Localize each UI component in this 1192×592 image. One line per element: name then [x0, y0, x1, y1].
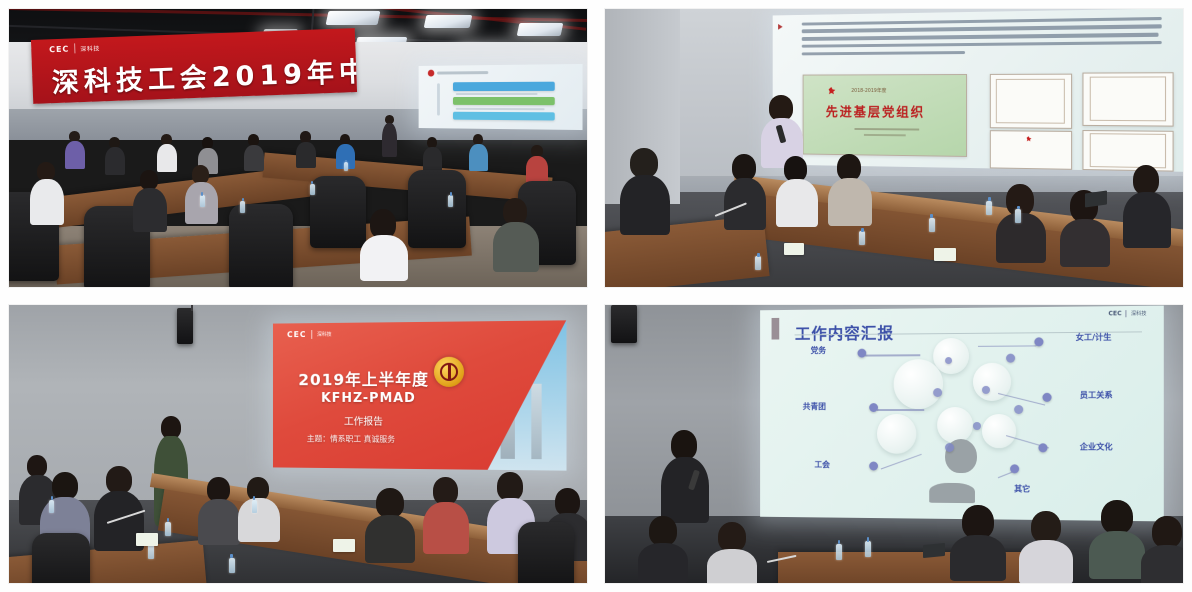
- attendee-torso: [493, 222, 539, 272]
- attendee-torso: [157, 144, 177, 172]
- certificate-line: [864, 134, 906, 136]
- diagram-node[interactable]: [870, 462, 879, 471]
- decor-bubble: [894, 359, 943, 409]
- water-bottle: [49, 500, 54, 513]
- connector-line: [878, 409, 925, 410]
- attendee-foreground: [367, 488, 411, 583]
- decor-bubble: [937, 407, 973, 443]
- diagram-node[interactable]: [1035, 337, 1044, 346]
- attendee-torso: [296, 142, 316, 168]
- water-bottle: [986, 201, 992, 215]
- ceiling-light: [325, 11, 380, 25]
- slide-line-4: 主题：情系职工 真诚服务: [307, 433, 395, 444]
- node-label-gongqingtuan: 共青团: [803, 401, 826, 412]
- slide-line-2: KFHZ-PMAD: [321, 391, 416, 406]
- decor-bubble: [878, 413, 917, 453]
- speaker-mount: [191, 305, 193, 311]
- award-certificate: [1083, 72, 1173, 126]
- attendee-foreground: [425, 477, 465, 577]
- attendee-foreground: [640, 516, 684, 584]
- attendee: [246, 134, 262, 170]
- attendee-torso: [423, 502, 469, 554]
- attendee-head: [1152, 516, 1182, 548]
- slide-bar-1: [452, 82, 554, 91]
- diagram-node[interactable]: [1039, 443, 1048, 452]
- diagram-node[interactable]: [982, 386, 990, 394]
- union-gear-emblem-icon: [434, 357, 464, 387]
- water-bottle: [310, 184, 315, 195]
- award-certificate: [990, 130, 1072, 169]
- connector-line: [866, 354, 921, 356]
- water-bottle: [1015, 209, 1021, 223]
- slide-bar-3: [452, 111, 554, 120]
- attendee-torso: [996, 213, 1046, 263]
- attendee-head: [649, 516, 677, 546]
- shenkeji-logo-text: 深科技: [317, 331, 332, 338]
- attendee-torso: [1123, 192, 1171, 248]
- attendee-torso: [950, 535, 1006, 581]
- logo-divider: [74, 43, 75, 53]
- photo-top-right[interactable]: 先进基层党组织、忆峥嵘岁月、树先进典型、扬党员正气。东沙湖党工委为进一步激励辖区…: [604, 8, 1184, 288]
- attendee-torso: [707, 549, 757, 584]
- attendee-torso: [526, 156, 548, 184]
- attendee-torso: [620, 175, 670, 235]
- presenter-torso: [382, 123, 397, 157]
- photo-cell-bottom-left[interactable]: CEC 深科技 2019年上半年度 KFHZ-PMAD 工作报告 主题：情系职工…: [0, 296, 596, 592]
- slide-text-line: [456, 107, 544, 109]
- slide-axis: [437, 83, 440, 115]
- attendee: [67, 131, 83, 171]
- presenter: [382, 115, 398, 165]
- water-bottle: [240, 201, 245, 213]
- attendee-torso: [238, 498, 280, 542]
- certificate-title: 先进基层党组织: [826, 101, 925, 120]
- presenter-torso: [661, 457, 709, 523]
- connector-line: [998, 392, 1045, 405]
- attendee-foreground: [622, 148, 666, 259]
- party-emblem-icon: [1026, 135, 1032, 141]
- water-bottle: [344, 162, 348, 171]
- slide-header: [427, 69, 487, 76]
- chair: [229, 204, 293, 288]
- diagram-node[interactable]: [1006, 354, 1015, 363]
- cec-logo-text: CEC: [287, 330, 306, 339]
- attendee-head: [732, 154, 756, 181]
- slide-header-line: [437, 71, 488, 74]
- water-bottle: [252, 500, 257, 513]
- tissue-box: [333, 539, 355, 552]
- attendee-head: [140, 170, 158, 190]
- certificate-line: [854, 127, 919, 130]
- decor-bubble: [933, 337, 969, 373]
- attendee-foreground: [998, 184, 1042, 287]
- photo-gallery: CEC 深科技 深科技工会2019年中工作会议: [0, 0, 1192, 592]
- attendee-torso: [776, 179, 818, 227]
- laptop: [923, 543, 945, 558]
- attendee-foreground: [362, 209, 404, 287]
- diagram-node[interactable]: [1043, 392, 1052, 401]
- photo-top-left[interactable]: CEC 深科技 深科技工会2019年中工作会议: [8, 8, 588, 288]
- attendee-head: [630, 148, 658, 178]
- attendee-head: [503, 198, 527, 225]
- decor-bubble: [982, 413, 1016, 447]
- attendee: [529, 145, 547, 183]
- attendee-torso: [1019, 540, 1073, 584]
- attendee-head: [497, 472, 523, 501]
- attendee-head: [376, 488, 404, 518]
- tissue-box: [784, 243, 804, 255]
- water-bottle: [229, 558, 235, 573]
- attendee-head: [433, 477, 458, 505]
- water-bottle: [865, 541, 871, 557]
- water-bottle: [200, 195, 205, 207]
- award-certificate: [990, 74, 1072, 129]
- banner-logo: CEC 深科技: [49, 43, 100, 55]
- projection-screen-bottom-right: 工作内容汇报 CEC 深科技: [760, 305, 1163, 521]
- certificate-main: 2018-2019年度 先进基层党组织: [803, 74, 967, 157]
- chair: [32, 533, 90, 584]
- projection-screen-top-left: [418, 64, 581, 130]
- chair: [310, 176, 366, 248]
- attendee-torso: [365, 515, 415, 563]
- slide-logo: CEC 深科技: [1109, 310, 1147, 318]
- photo-bottom-right[interactable]: 工作内容汇报 CEC 深科技: [604, 304, 1184, 584]
- cec-logo-text: CEC: [1109, 310, 1122, 317]
- water-bottle: [448, 195, 453, 207]
- attendee: [298, 131, 314, 167]
- tissue-box: [136, 533, 158, 546]
- logo-divider: [1126, 310, 1127, 317]
- avatar-body-icon: [929, 483, 975, 503]
- attendee: [778, 156, 814, 251]
- photo-cell-bottom-right[interactable]: 工作内容汇报 CEC 深科技: [596, 296, 1192, 592]
- attendee-foreground: [1091, 500, 1141, 584]
- certificate-frame: [1090, 76, 1166, 121]
- tissue-box: [934, 248, 956, 261]
- attendee-head: [962, 505, 994, 539]
- chair: [408, 170, 466, 248]
- attendee-torso: [1060, 219, 1110, 267]
- cec-logo-text: CEC: [49, 44, 70, 54]
- attendee-foreground: [709, 522, 753, 584]
- attendee-torso: [423, 147, 442, 172]
- water-bottle: [148, 544, 154, 559]
- attendee-head: [106, 466, 132, 494]
- attendee-torso: [198, 499, 240, 545]
- node-label-qiye-wenhua: 企业文化: [1080, 441, 1113, 452]
- attendee-torso: [65, 141, 85, 169]
- wall-speaker: [177, 308, 193, 344]
- photo-cell-top-right[interactable]: 先进基层党组织、忆峥嵘岁月、树先进典型、扬党员正气。东沙湖党工委为进一步激励辖区…: [596, 0, 1192, 296]
- diagram-node[interactable]: [933, 388, 942, 397]
- attendee: [240, 477, 276, 560]
- attendee-torso: [133, 188, 167, 232]
- slide-logo: CEC 深科技: [287, 330, 332, 339]
- projection-screen-top-right: 先进基层党组织、忆峥嵘岁月、树先进典型、扬党员正气。东沙湖党工委为进一步激励辖区…: [773, 8, 1184, 171]
- attendee-foreground: [1143, 516, 1184, 584]
- title-accent-bar: [772, 318, 780, 340]
- attendee-foreground: [495, 198, 535, 281]
- attendee-torso: [469, 144, 488, 171]
- attendee-foreground: [136, 170, 164, 228]
- diagram-node[interactable]: [1014, 405, 1023, 414]
- water-bottle: [755, 256, 761, 270]
- attendee: [425, 137, 441, 171]
- water-bottle: [859, 231, 865, 245]
- node-label-dangwu: 党务: [811, 345, 826, 356]
- diagram-node[interactable]: [974, 422, 982, 430]
- diagram-node[interactable]: [1010, 464, 1019, 473]
- water-bottle: [929, 218, 935, 232]
- attendee-torso: [105, 147, 125, 175]
- ceiling-light: [516, 23, 563, 36]
- attendee-torso: [828, 178, 872, 226]
- building-tower: [532, 383, 542, 458]
- attendee-torso: [360, 235, 408, 281]
- slide-text-line: [456, 93, 538, 95]
- logo-divider: [311, 330, 312, 339]
- attendee-head: [718, 522, 746, 552]
- attendee-torso: [30, 179, 64, 225]
- attendee-foreground: [952, 505, 1002, 584]
- party-emblem-icon: [827, 86, 835, 95]
- attendee-head: [555, 488, 580, 516]
- node-label-nugong-jisheng: 女工/计生: [1076, 332, 1112, 343]
- certificate-frame: [1090, 133, 1166, 167]
- node-label-gonghui: 工会: [815, 459, 830, 470]
- wall-speaker: [611, 305, 637, 343]
- attendee-foreground: [1021, 511, 1069, 584]
- attendee-head: [1101, 500, 1133, 534]
- slide-bullet-icon: [427, 70, 433, 77]
- attendee-head: [1133, 165, 1159, 195]
- banner-title: 深科技工会2019年中工作会议: [51, 45, 357, 100]
- node-label-qita: 其它: [1014, 484, 1030, 495]
- shenkeji-logo-text: 深科技: [80, 43, 100, 53]
- attendee-torso: [244, 145, 264, 171]
- photo-bottom-left[interactable]: CEC 深科技 2019年上半年度 KFHZ-PMAD 工作报告 主题：情系职工…: [8, 304, 588, 584]
- slide-body-text: [792, 16, 1163, 59]
- attendee-foreground: [1125, 165, 1167, 276]
- attendee-torso: [1141, 545, 1184, 584]
- attendee-head: [192, 165, 209, 184]
- connector-line: [881, 453, 922, 469]
- slide-line-1: 2019年上半年度: [298, 366, 429, 390]
- certificate-period: 2018-2019年度: [851, 86, 886, 93]
- attendee: [159, 134, 175, 172]
- slide-bullet-arrow-icon: [778, 23, 783, 29]
- slide-title: 工作内容汇报: [795, 319, 894, 344]
- attendee: [471, 134, 487, 170]
- connector-line: [978, 345, 1036, 347]
- attendee-head: [52, 472, 78, 500]
- water-bottle: [165, 522, 171, 536]
- attendee-torso: [1089, 531, 1145, 579]
- shenkeji-logo-text: 深科技: [1131, 310, 1147, 317]
- slide-line-3: 工作报告: [344, 413, 383, 428]
- attendee-head: [1031, 511, 1061, 543]
- attendee: [107, 137, 123, 175]
- slide-bar-2: [452, 97, 554, 105]
- water-bottle: [836, 544, 842, 560]
- ceiling-light: [424, 15, 473, 28]
- node-label-yuangong-guanxi: 员工关系: [1080, 390, 1113, 401]
- chair: [518, 522, 574, 584]
- attendee: [200, 477, 236, 566]
- slide-report-cover: CEC 深科技 2019年上半年度 KFHZ-PMAD 工作报告 主题：情系职工…: [273, 320, 566, 471]
- certificate-frame: [996, 78, 1065, 123]
- presenter-head: [671, 430, 697, 460]
- conference-banner: CEC 深科技 深科技工会2019年中工作会议: [31, 28, 357, 104]
- attendee-foreground: [96, 466, 138, 577]
- photo-cell-top-left[interactable]: CEC 深科技 深科技工会2019年中工作会议: [0, 0, 596, 296]
- attendee-torso: [638, 543, 688, 583]
- attendee-head: [837, 154, 861, 181]
- projection-screen-bottom-left: CEC 深科技 2019年上半年度 KFHZ-PMAD 工作报告 主题：情系职工…: [273, 320, 566, 471]
- attendee-foreground: [32, 162, 62, 222]
